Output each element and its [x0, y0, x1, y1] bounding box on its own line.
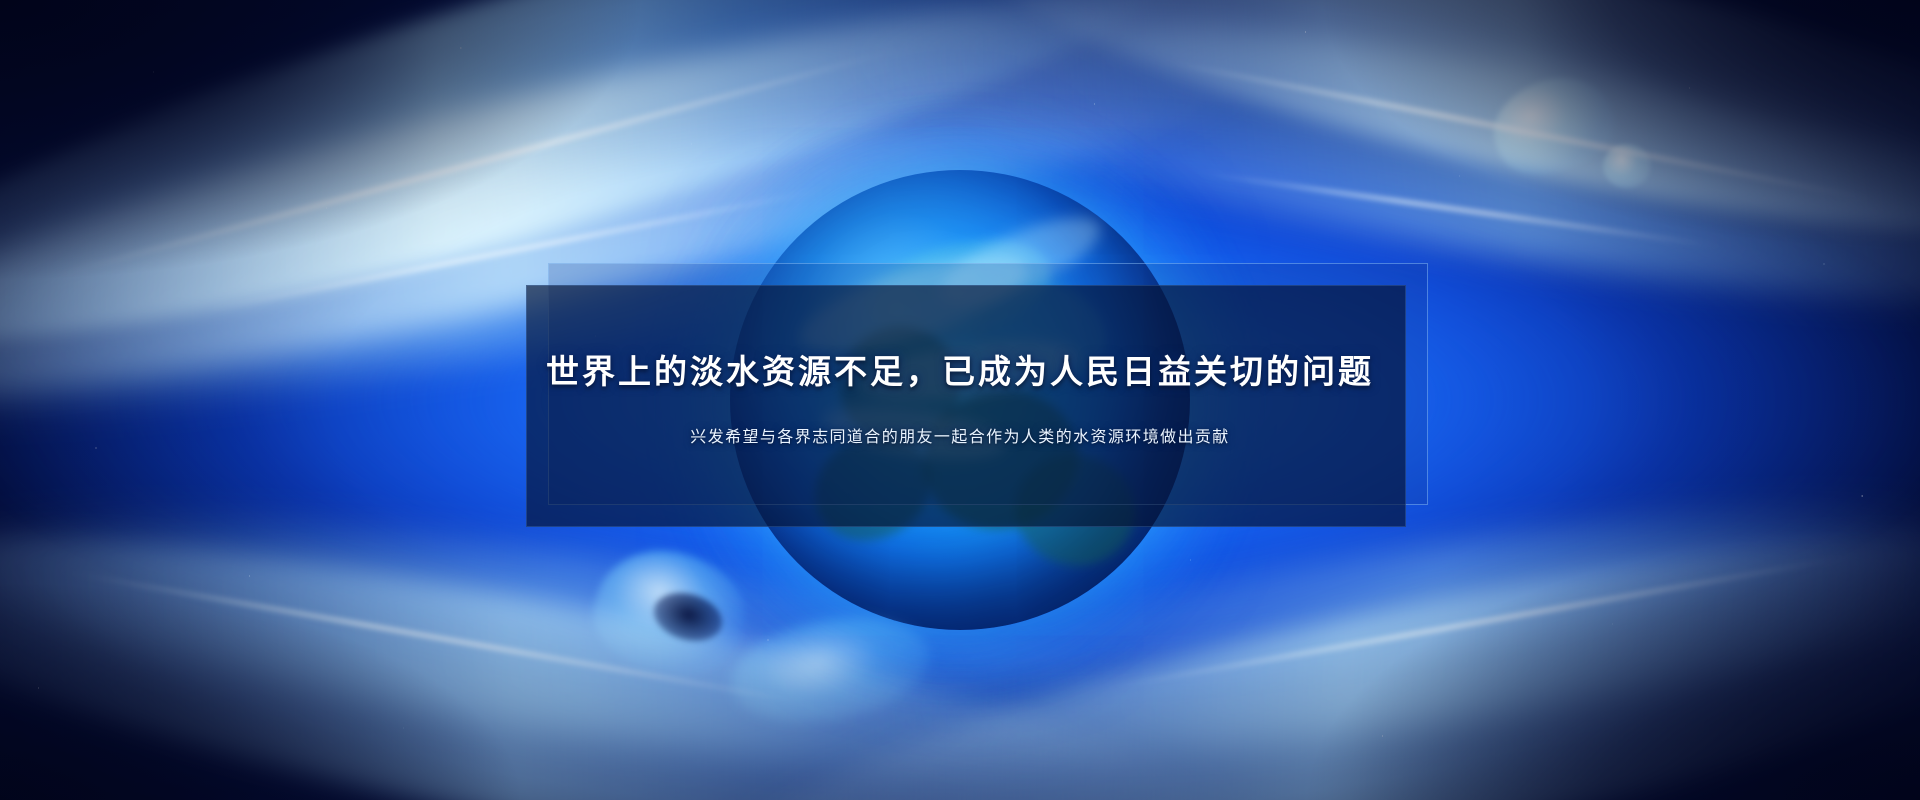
banner-content: 世界上的淡水资源不足，已成为人民日益关切的问题 兴发希望与各界志同道合的朋友一起…	[510, 275, 1410, 525]
hero-banner: 世界上的淡水资源不足，已成为人民日益关切的问题 兴发希望与各界志同道合的朋友一起…	[0, 0, 1920, 800]
banner-subheadline: 兴发希望与各界志同道合的朋友一起合作为人类的水资源环境做出贡献	[510, 426, 1410, 448]
banner-headline: 世界上的淡水资源不足，已成为人民日益关切的问题	[510, 351, 1410, 392]
banner-text-stack: 世界上的淡水资源不足，已成为人民日益关切的问题 兴发希望与各界志同道合的朋友一起…	[510, 351, 1410, 449]
corner-shade-bottom-left	[0, 528, 653, 800]
